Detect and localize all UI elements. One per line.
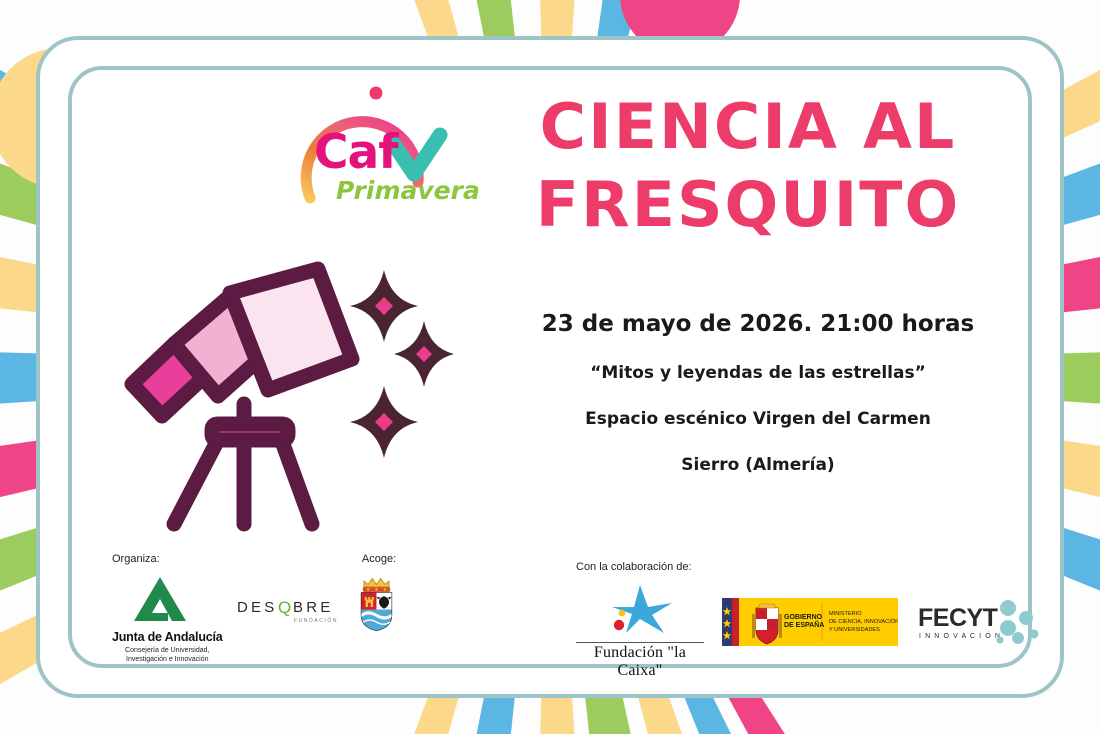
junta-de-andalucia-logo: Junta de Andalucía Consejería de Univers… <box>112 573 223 664</box>
event-details: 23 de mayo de 2026. 21:00 horas “Mitos y… <box>488 311 1028 475</box>
crown-icon <box>363 579 390 592</box>
caixa-dot-red <box>614 620 624 630</box>
gobierno-line-1: GOBIERNO <box>784 614 823 621</box>
fecyt-sub: I N N O V A C I Ó N <box>919 631 1001 640</box>
acoge-label: Acoge: <box>324 553 434 565</box>
event-location: Sierro (Almería) <box>488 455 1028 475</box>
andalucia-a-icon <box>134 577 186 621</box>
logo-wordmark: Caf <box>314 125 399 180</box>
event-talk-title: “Mitos y leyendas de las estrellas” <box>488 363 1028 383</box>
event-date: 23 de mayo de 2026. 21:00 horas <box>488 311 1028 337</box>
gobierno-line-2: DE ESPAÑA <box>784 620 824 629</box>
junta-sub-line-2: Investigación e Innovación <box>112 655 223 664</box>
junta-sub-line-1: Consejería de Universidad, <box>112 646 223 655</box>
fundacion-la-caixa-logo: Fundación "la Caixa" <box>576 581 704 680</box>
colaboracion-label: Con la colaboración de: <box>576 561 1036 573</box>
desqbre-prefix: DES <box>237 599 277 616</box>
fecyt-word: FECYT <box>918 604 998 632</box>
logo-subtitle: Primavera <box>336 176 480 205</box>
title-line-1: CIENCIA AL <box>462 88 1033 166</box>
gobierno-de-espana-logo: GOBIERNO DE ESPAÑA MINISTERIO DE CIENCIA… <box>722 598 898 651</box>
organiza-block: Organiza: Junta de Andalucía Consejería … <box>112 553 342 664</box>
page-title: CIENCIA AL FRESQUITO <box>468 88 1028 244</box>
fecyt-molecule-icon <box>997 600 1039 644</box>
caixa-dot-yellow <box>619 610 626 617</box>
junta-name: Junta de Andalucía <box>112 630 223 644</box>
telescope-leg-right <box>280 436 312 524</box>
poster-canvas: Caf Primavera CIENCIA AL FRESQUITO <box>0 0 1100 734</box>
logo-arc-dot <box>370 87 383 100</box>
organiza-label: Organiza: <box>112 553 342 565</box>
poster-content: Caf Primavera CIENCIA AL FRESQUITO <box>68 66 1032 668</box>
caixa-name: Fundación "la Caixa" <box>576 642 704 680</box>
colaboracion-block: Con la colaboración de: Fundación "la Ca… <box>576 561 1036 680</box>
telescope-mount <box>212 424 288 440</box>
desqbre-q-letter: Q <box>278 598 291 617</box>
acoge-block: Acoge: <box>324 553 434 638</box>
ministerio-line-2: DE CIENCIA, INNOVACIÓN <box>829 618 898 625</box>
cafv-primavera-logo: Caf Primavera <box>290 86 480 216</box>
castle-icon <box>365 597 374 607</box>
ministerio-line-3: Y UNIVERSIDADES <box>829 627 880 633</box>
ministerio-line-1: MINISTERIO <box>829 611 862 617</box>
event-venue: Espacio escénico Virgen del Carmen <box>488 409 1028 429</box>
sierro-coat-of-arms <box>324 571 434 638</box>
sparkle-stars <box>350 270 454 458</box>
desqbre-logo: DES Q BRE FUNDACIÓN <box>237 594 337 633</box>
title-line-2: FRESQUITO <box>462 166 1033 244</box>
telescope-leg-left <box>174 436 220 524</box>
fecyt-logo: FECYT I N N O V A C I Ó N <box>916 598 1040 651</box>
telescope-illustration <box>112 244 472 544</box>
